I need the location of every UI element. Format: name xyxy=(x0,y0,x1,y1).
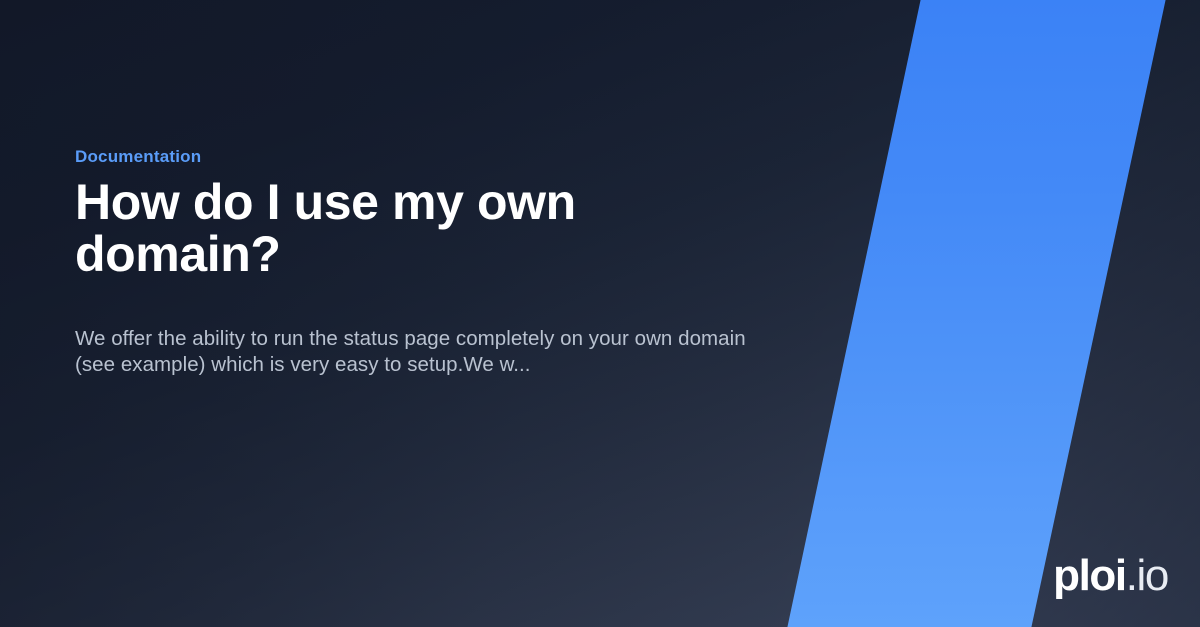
page-excerpt: We offer the ability to run the status p… xyxy=(75,326,775,378)
card-content: Documentation How do I use my own domain… xyxy=(75,0,795,627)
og-share-card: Documentation How do I use my own domain… xyxy=(0,0,1200,627)
logo-wordmark: ploi xyxy=(1053,553,1126,599)
ploi-logo: ploi.io xyxy=(1053,553,1168,599)
page-title: How do I use my own domain? xyxy=(75,176,715,280)
logo-tld: .io xyxy=(1126,553,1168,599)
category-label: Documentation xyxy=(75,146,201,168)
